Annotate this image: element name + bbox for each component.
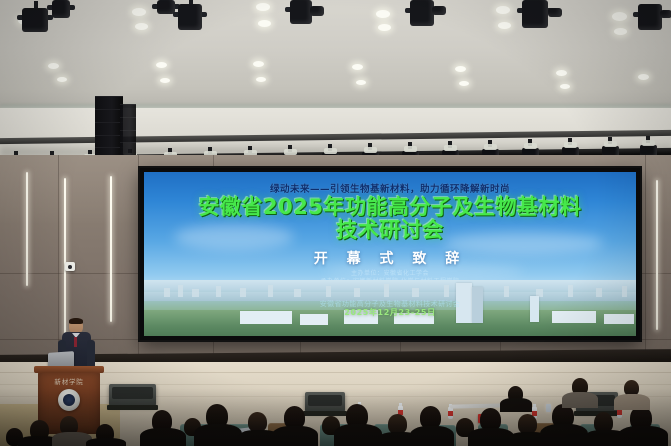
downlight-icon (496, 6, 510, 14)
stage-spotlight-icon (638, 4, 662, 30)
screen-date: 2025年12月23-25日 (144, 307, 636, 318)
downlight-icon (256, 77, 266, 82)
stage-monitor (109, 384, 156, 406)
downlight-icon (352, 64, 363, 70)
downlight-icon (156, 62, 167, 68)
audience-head (248, 412, 267, 432)
stage-spotlight-icon (290, 0, 312, 24)
line-array-speaker (95, 96, 123, 158)
water-bottle (448, 407, 453, 419)
audience-shoulders (86, 438, 126, 446)
campus-photo: 安徽省功能高分子及生物基材料技术研讨会 2025年12月23-25日 (144, 280, 636, 336)
stage-spotlight-icon (157, 0, 175, 14)
downlight-icon (556, 70, 567, 76)
wall-led-strip (26, 172, 28, 286)
audience-shoulders (194, 424, 242, 446)
downlight-icon (560, 84, 570, 89)
screen-title-line2: 技术研讨会 (144, 219, 636, 242)
audience-shoulders (272, 426, 318, 446)
audience-shoulders (140, 428, 186, 446)
audience-phone (546, 404, 551, 412)
downlight-icon (132, 8, 146, 16)
audience-shoulders (614, 394, 650, 410)
wall-led-strip (656, 180, 658, 330)
conference-hall-screenshot: 绿动未来——引领生物基新材料，助力循环降解新时尚 安徽省2025年功能高分子及生… (0, 0, 671, 446)
audience-shoulders (540, 424, 588, 446)
wall-led-strip (64, 178, 66, 336)
downlight-icon (48, 63, 59, 69)
audience-shoulders (500, 398, 532, 412)
monitor-grille (308, 395, 342, 406)
stage-spotlight-icon (522, 0, 548, 28)
stage-spotlight-icon (410, 0, 434, 26)
downlight-icon (455, 66, 466, 72)
downlight-icon (160, 78, 170, 83)
downlight-icon (498, 22, 511, 29)
wall-seam (138, 155, 139, 360)
downlight-icon (614, 28, 627, 35)
speaker-hair (69, 318, 83, 324)
audience-head (518, 414, 537, 434)
podium-top-surface (34, 366, 104, 373)
downlight-icon (256, 3, 270, 11)
monitor-grille (112, 387, 153, 399)
screen-tagline: 绿动未来——引领生物基新材料，助力循环降解新时尚 (144, 181, 636, 195)
led-stage-screen: 绿动未来——引领生物基新材料，助力循环降解新时尚 安徽省2025年功能高分子及生… (140, 168, 640, 340)
stage-spotlight-icon (310, 6, 324, 16)
downlight-icon (356, 80, 366, 85)
audience-shoulders (562, 392, 598, 408)
podium-label: 新材学院 (38, 376, 100, 386)
stage-spotlight-icon (660, 10, 671, 18)
downlight-icon (612, 12, 627, 21)
screen-organizer-line1: 主办单位：安徽省化工学会 (144, 270, 636, 278)
stage-spotlight-icon (22, 8, 48, 32)
stage-spotlight-icon (432, 6, 446, 15)
downlight-icon (253, 61, 264, 67)
line-array-speaker (120, 104, 136, 154)
wall-led-strip (110, 176, 112, 322)
wall-seam (645, 155, 646, 360)
screen-content: 绿动未来——引领生物基新材料，助力循环降解新时尚 安徽省2025年功能高分子及生… (144, 172, 636, 336)
stage-monitor (305, 392, 345, 412)
campus-skyline (144, 283, 636, 297)
screen-title: 安徽省2025年功能高分子及生物基材料 技术研讨会 (144, 196, 636, 242)
downlight-icon (258, 20, 271, 27)
monitor-base (303, 411, 347, 416)
wall-camera-icon (65, 262, 75, 271)
monitor-base (107, 405, 158, 410)
audience-head (388, 414, 407, 434)
audience-shoulders (334, 424, 382, 446)
downlight-icon (378, 24, 391, 31)
downlight-icon (135, 23, 148, 30)
downlight-icon (57, 77, 67, 82)
downlight-icon (376, 10, 390, 18)
stage-spotlight-icon (178, 4, 202, 30)
screen-title-line1: 安徽省2025年功能高分子及生物基材料 (144, 196, 636, 219)
audience-shoulders (410, 426, 454, 446)
audience-shoulders (618, 426, 668, 446)
downlight-icon (459, 81, 469, 86)
podium-emblem-icon (58, 389, 80, 411)
floor-grain-line (0, 384, 671, 385)
screen-subtitle: 开 幕 式 致 辞 (144, 248, 636, 268)
speaker-tie (74, 337, 77, 347)
stage-spotlight-icon (548, 8, 562, 17)
downlight-icon (638, 74, 649, 80)
stage-spotlight-icon (52, 0, 70, 18)
